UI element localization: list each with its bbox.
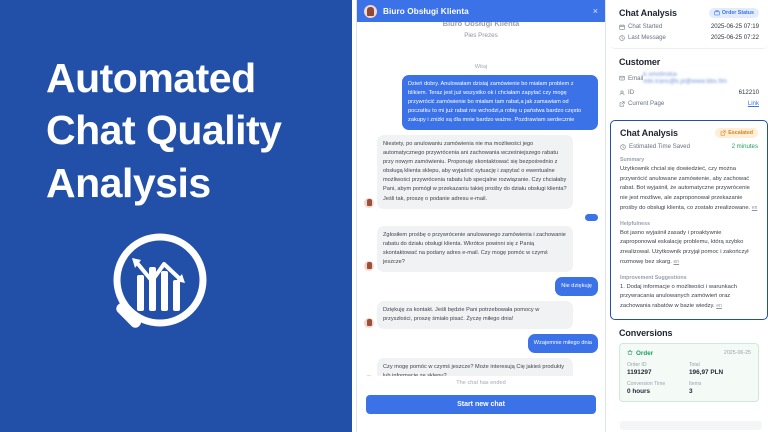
improvement-suggestions-text: 1. Dodaj informacje o możliwości i warun… [620, 283, 758, 312]
message-row: Nie dziękuję [364, 277, 598, 296]
order-status-badge-label: Order Status [722, 10, 754, 16]
chat-meta-title: Chat Analysis [619, 8, 677, 18]
customer-email-row: Email k.smolinska-mbi.trans@k.pl@www.bbs… [619, 71, 759, 85]
agent-avatar [364, 5, 377, 18]
chat-widget-column: Biuro Obsługi Klienta × Biuro Obsługi Kl… [352, 0, 610, 432]
message-row: Czy mogę pomóc w czymś jeszcze? Może int… [364, 358, 598, 376]
customer-id-row: ID 612210 [619, 89, 759, 96]
chat-widget-header: Biuro Obsługi Klienta × [357, 0, 605, 22]
order-status-badge[interactable]: Order Status [709, 8, 759, 18]
bot-avatar [364, 318, 374, 328]
message-bubble-bot: Czy mogę pomóc w czymś jeszcze? Może int… [377, 358, 573, 376]
message-bubble-user: Dzień dobry. Anulowałam dzisiaj zamówien… [402, 75, 598, 130]
chat-widget-title: Biuro Obsługi Klienta [383, 7, 587, 16]
conversions-card: Conversions Order 2025-06-25 Order ID 11… [610, 320, 768, 409]
chat-subheader: Biuro Obsługi Klienta Pies Prezes [357, 22, 605, 56]
close-icon[interactable]: × [593, 7, 598, 16]
customer-card: Customer Email k.smolinska-mbi.trans@k.p… [610, 49, 768, 114]
current-page-row: Current Page Link [619, 100, 759, 107]
order-id-field: Order ID 1191297 [627, 362, 689, 376]
clock-icon [620, 144, 626, 150]
escalated-badge-label: Escalated [728, 130, 753, 136]
chat-analysis-title: Chat Analysis [620, 128, 678, 138]
message-row: Dziękuję za kontakt. Jeśli będzie Pani p… [364, 301, 598, 329]
message-bubble-user: Nie dziękuję [555, 277, 598, 296]
improvement-suggestions-label: Improvement Suggestions [620, 275, 758, 281]
panel-scroll-edge[interactable] [620, 421, 762, 430]
start-new-chat-button[interactable]: Start new chat [366, 395, 596, 414]
suggestions-more-link[interactable]: en [716, 303, 722, 309]
customer-id-value: 612210 [739, 89, 759, 96]
conversion-time-field: Conversion Time 0 hours [627, 381, 689, 395]
customer-title: Customer [619, 57, 759, 67]
helpfulness-text: Bot jasno wyjaśnił zasady i proaktywnie … [620, 229, 758, 268]
current-page-label: Current Page [619, 100, 664, 107]
screenshot-root: Automated Chat Quality Analysis [0, 0, 768, 432]
tag-icon [714, 10, 720, 16]
chat-widget-footer: The chat has ended Start new chat [357, 376, 605, 432]
chat-started-row: Chat Started 2025-06-25 07:19 [619, 23, 759, 30]
customer-email-value: k.smolinska-mbi.trans@k.pl@www.bbs.fim [643, 71, 759, 85]
order-label-group: Order [627, 350, 653, 357]
cart-icon [627, 350, 633, 356]
order-conversion-box[interactable]: Order 2025-06-25 Order ID 1191297 Total … [619, 343, 759, 402]
page-title: Automated Chat Quality Analysis [46, 52, 336, 209]
analysis-panel[interactable]: Chat Analysis Order Status Chat Started … [610, 0, 768, 432]
bot-avatar [364, 375, 374, 376]
time-saved-row: Estimated Time Saved 2 minutes [620, 143, 758, 150]
bot-avatar [364, 261, 374, 271]
message-row: Niestety, po anulowaniu zamówienia nie m… [364, 135, 598, 208]
mail-icon [619, 75, 625, 81]
message-row: Zgłosiłem prośbę o przywrócenie anulowan… [364, 226, 598, 272]
current-page-link[interactable]: Link [748, 100, 759, 107]
order-date: 2025-06-25 [724, 350, 751, 356]
message-bubble-bot: Zgłosiłem prośbę o przywrócenie anulowan… [377, 226, 573, 272]
conversions-title: Conversions [619, 328, 759, 338]
title-line-1: Automated [46, 52, 336, 104]
chat-ended-note: The chat has ended [366, 380, 596, 386]
message-bubble-bot: Dziękuję za kontakt. Jeśli będzie Pani p… [377, 301, 573, 329]
typing-indicator-pill [585, 214, 598, 221]
summary-more-link[interactable]: en [752, 205, 758, 211]
chat-message-list[interactable]: Witaj Dzień dobry. Anulowałam dzisiaj za… [357, 56, 605, 376]
time-saved-label: Estimated Time Saved [620, 143, 690, 150]
bot-avatar [364, 198, 374, 208]
customer-id-label: ID [619, 89, 634, 96]
message-bubble-user: Wzajemnie miłego dnia [528, 334, 598, 353]
last-message-value: 2025-06-25 07:22 [711, 34, 759, 41]
hero-panel: Automated Chat Quality Analysis [0, 0, 352, 432]
customer-email-label: Email [619, 75, 643, 82]
order-fields-grid: Order ID 1191297 Total 196,97 PLN Conver… [627, 362, 751, 395]
message-row: Dzień dobry. Anulowałam dzisiaj zamówien… [364, 75, 598, 130]
last-message-label: Last Message [619, 34, 666, 41]
message-bubble-bot: Niestety, po anulowaniu zamówienia nie m… [377, 135, 573, 208]
title-line-2: Chat Quality [46, 104, 336, 156]
external-link-icon [619, 101, 625, 107]
summary-text: Użytkownik chciał się dowiedzieć, czy mo… [620, 165, 758, 214]
order-label: Order [636, 350, 653, 357]
user-icon [619, 90, 625, 96]
escalated-badge[interactable]: Escalated [715, 128, 758, 138]
calendar-icon [619, 24, 625, 30]
helpfulness-more-link[interactable]: en [674, 259, 680, 265]
chat-started-label: Chat Started [619, 23, 662, 30]
helpfulness-label: Helpfulness [620, 221, 758, 227]
chat-agent-name: Pies Prezes [357, 32, 605, 39]
chat-brand-name: Biuro Obsługi Klienta [357, 22, 605, 28]
title-line-3: Analysis [46, 157, 336, 209]
last-message-row: Last Message 2025-06-25 07:22 [619, 34, 759, 41]
items-count-field: Items 3 [689, 381, 751, 395]
chat-widget: Biuro Obsługi Klienta × Biuro Obsługi Kl… [356, 0, 606, 432]
chat-greeting-note: Witaj [364, 64, 598, 70]
chat-analysis-card: Chat Analysis Escalated Estimated Time S… [610, 120, 768, 320]
chat-meta-header: Chat Analysis Order Status [619, 8, 759, 18]
order-total-field: Total 196,97 PLN [689, 362, 751, 376]
chat-analysis-header: Chat Analysis Escalated [620, 128, 758, 138]
clock-icon [619, 35, 625, 41]
magnifying-glass-bar-chart-logo [88, 228, 218, 358]
time-saved-value: 2 minutes [732, 143, 758, 150]
escalate-icon [720, 130, 726, 136]
chat-meta-card: Chat Analysis Order Status Chat Started … [610, 0, 768, 49]
summary-label: Summary [620, 157, 758, 163]
chat-started-value: 2025-06-25 07:19 [711, 23, 759, 30]
order-header: Order 2025-06-25 [627, 350, 751, 357]
message-row: Wzajemnie miłego dnia [364, 334, 598, 353]
